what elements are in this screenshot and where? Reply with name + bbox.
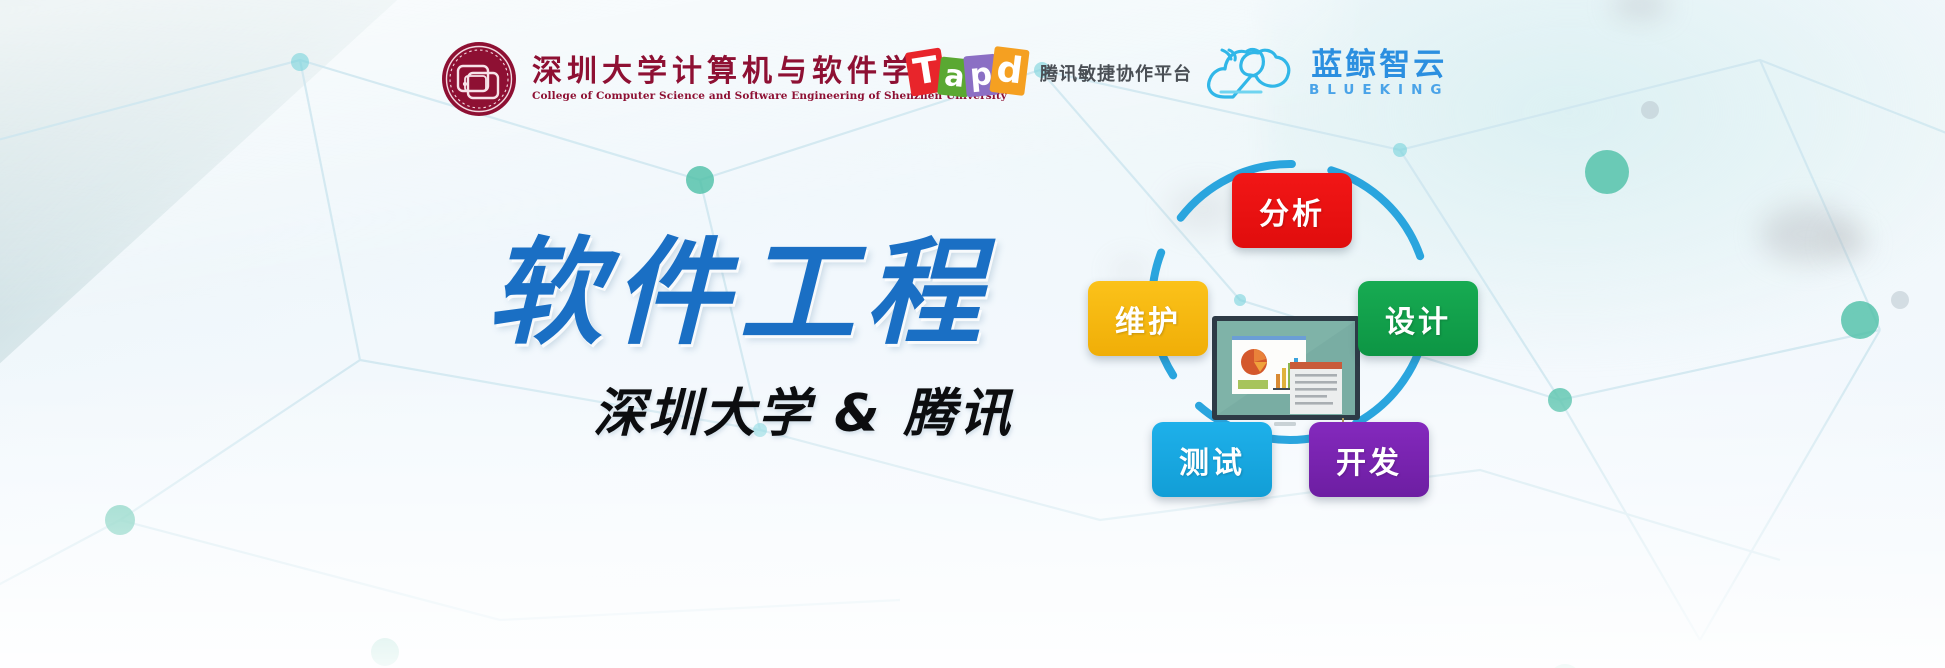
blueking-text-block: 蓝鲸智云 BLUEKING bbox=[1309, 50, 1449, 98]
blueking-english-name: BLUEKING bbox=[1309, 82, 1449, 98]
tapd-wordmark-icon: T a p d bbox=[908, 46, 1030, 100]
headline-group: 软件工程 深圳大学 & 腾讯 bbox=[487, 236, 1014, 440]
lifecycle-node-design[interactable]: 设计 bbox=[1358, 281, 1478, 356]
blueking-chinese-name: 蓝鲸智云 bbox=[1311, 50, 1447, 81]
presentation-monitor-icon bbox=[1210, 314, 1362, 434]
background-blur-circle bbox=[1612, 0, 1668, 18]
tapd-logo-group: T a p d 腾讯敏捷协作平台 bbox=[908, 46, 1192, 100]
szu-seal-icon bbox=[440, 40, 518, 118]
lifecycle-node-label: 开发 bbox=[1336, 438, 1402, 482]
lifecycle-node-maintenance[interactable]: 维护 bbox=[1088, 281, 1208, 356]
tapd-letter-d: d bbox=[989, 46, 1029, 96]
background-blur-circle bbox=[1760, 205, 1856, 263]
tapd-tagline: 腾讯敏捷协作平台 bbox=[1040, 60, 1192, 86]
blueking-logo-group: 蓝鲸智云 BLUEKING bbox=[1203, 40, 1449, 107]
logo-row: 深圳大学计算机与软件学院 College of Computer Science… bbox=[0, 18, 1945, 108]
lifecycle-node-label: 分析 bbox=[1259, 189, 1325, 233]
lifecycle-node-development[interactable]: 开发 bbox=[1309, 422, 1429, 497]
page-subtitle: 深圳大学 & 腾讯 bbox=[593, 388, 1014, 440]
software-lifecycle-diagram: 分析 设计 开发 测试 维护 bbox=[1060, 128, 1520, 468]
lifecycle-node-label: 测试 bbox=[1179, 438, 1245, 482]
page-title: 软件工程 bbox=[487, 236, 1014, 352]
lifecycle-node-testing[interactable]: 测试 bbox=[1152, 422, 1272, 497]
lifecycle-node-label: 维护 bbox=[1115, 297, 1181, 341]
lifecycle-node-analysis[interactable]: 分析 bbox=[1232, 173, 1352, 248]
lifecycle-node-label: 设计 bbox=[1385, 297, 1451, 341]
background-blur-circle bbox=[1830, 232, 1868, 254]
banner-root: 深圳大学计算机与软件学院 College of Computer Science… bbox=[0, 0, 1945, 668]
whale-cloud-icon bbox=[1203, 40, 1295, 107]
